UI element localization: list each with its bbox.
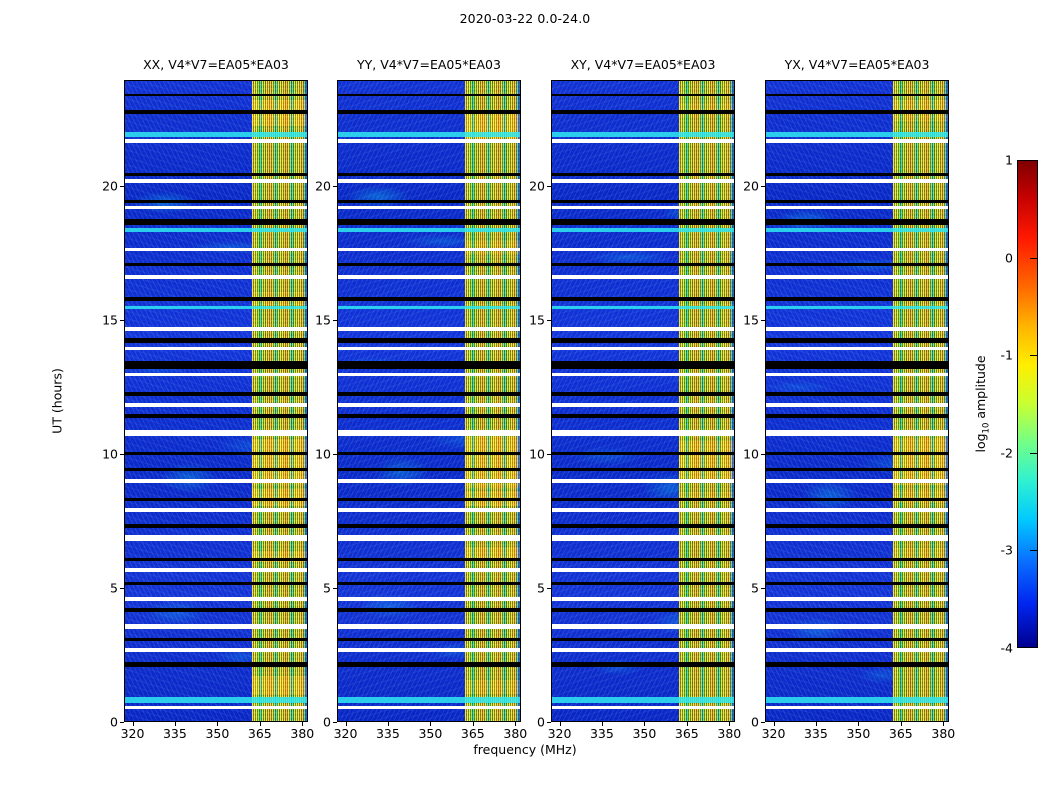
xtickmark — [133, 722, 134, 726]
ytick-xy-0: 0 — [521, 715, 545, 730]
cbtick-m3: -3 — [1001, 543, 1013, 558]
panel-title-yy: YY, V4*V7=EA05*EA03 — [357, 57, 501, 72]
xtickmark — [729, 722, 730, 726]
panel-yx: YX, V4*V7=EA05*EA03 — [765, 80, 949, 722]
heatmap-axes-yx[interactable] — [765, 80, 949, 722]
colorbar-label-base: log — [973, 433, 988, 452]
ytickmark — [547, 186, 551, 187]
xtick-xx-320: 320 — [121, 726, 145, 741]
ytickmark — [120, 722, 124, 723]
ytick-yy-20: 20 — [307, 179, 331, 194]
ytick-yy-10: 10 — [307, 447, 331, 462]
cbtick-1: 1 — [1005, 153, 1013, 168]
ytick-xx-15: 15 — [94, 313, 118, 328]
ytickmark — [333, 320, 337, 321]
xtick-xx-365: 365 — [248, 726, 272, 741]
xtickmark — [175, 722, 176, 726]
ytickmark — [547, 320, 551, 321]
x-axis-label: frequency (MHz) — [0, 742, 1050, 757]
ytick-xy-10: 10 — [521, 447, 545, 462]
flagged-row-stripes — [766, 81, 948, 721]
flagged-row-stripes — [338, 81, 520, 721]
figure-canvas: 2020-03-22 0.0-24.0 XX, V4*V7=EA05*EA03 — [0, 0, 1050, 800]
heatmap-axes-xy[interactable] — [551, 80, 735, 722]
ytick-xx-5: 5 — [94, 581, 118, 596]
xtick-yy-365: 365 — [461, 726, 485, 741]
y-axis-label: UT (hours) — [50, 368, 65, 434]
xtickmark — [473, 722, 474, 726]
xtick-yx-320: 320 — [762, 726, 786, 741]
panel-title-xy: XY, V4*V7=EA05*EA03 — [571, 57, 716, 72]
ytick-yx-10: 10 — [735, 447, 759, 462]
cbtick-0: 0 — [1005, 250, 1013, 265]
xtickmark — [774, 722, 775, 726]
xtickmark — [430, 722, 431, 726]
panel-yy: YY, V4*V7=EA05*EA03 — [337, 80, 521, 722]
cbtick-m1: -1 — [1001, 348, 1013, 363]
ytick-xy-20: 20 — [521, 179, 545, 194]
ytick-yx-5: 5 — [735, 581, 759, 596]
ytickmark — [120, 588, 124, 589]
ytickmark — [761, 454, 765, 455]
ytick-yy-15: 15 — [307, 313, 331, 328]
xtickmark — [560, 722, 561, 726]
cbtickmark — [1030, 258, 1038, 259]
colorbar-label-sub: 10 — [981, 423, 991, 434]
ytick-xx-0: 0 — [94, 715, 118, 730]
ytickmark — [333, 186, 337, 187]
ytickmark — [761, 186, 765, 187]
xtick-yy-335: 335 — [376, 726, 400, 741]
colorbar-label: log10 amplitude — [973, 355, 992, 452]
ytickmark — [547, 722, 551, 723]
colorbar[interactable] — [1017, 160, 1038, 648]
cbtick-m2: -2 — [1001, 445, 1013, 460]
xtick-yx-350: 350 — [846, 726, 870, 741]
xtickmark — [858, 722, 859, 726]
panel-xy: XY, V4*V7=EA05*EA03 — [551, 80, 735, 722]
ytickmark — [120, 320, 124, 321]
xtickmark — [901, 722, 902, 726]
cbtick-m4: -4 — [1001, 641, 1013, 656]
xtick-yx-365: 365 — [889, 726, 913, 741]
xtick-yx-335: 335 — [804, 726, 828, 741]
ytickmark — [120, 454, 124, 455]
ytick-yx-0: 0 — [735, 715, 759, 730]
ytickmark — [761, 588, 765, 589]
xtickmark — [816, 722, 817, 726]
xtickmark — [388, 722, 389, 726]
xtick-xx-350: 350 — [205, 726, 229, 741]
ytickmark — [333, 722, 337, 723]
ytickmark — [333, 454, 337, 455]
cbtickmark — [1030, 550, 1038, 551]
xtickmark — [302, 722, 303, 726]
xtick-yy-320: 320 — [334, 726, 358, 741]
xtickmark — [515, 722, 516, 726]
xtickmark — [346, 722, 347, 726]
ytick-yy-5: 5 — [307, 581, 331, 596]
xtick-xy-335: 335 — [590, 726, 614, 741]
flagged-row-stripes — [125, 81, 307, 721]
xtickmark — [644, 722, 645, 726]
ytick-xy-5: 5 — [521, 581, 545, 596]
xtick-yx-380: 380 — [931, 726, 955, 741]
ytickmark — [761, 320, 765, 321]
ytick-yx-15: 15 — [735, 313, 759, 328]
panel-xx: XX, V4*V7=EA05*EA03 — [124, 80, 308, 722]
xtick-yy-350: 350 — [418, 726, 442, 741]
xtick-xy-350: 350 — [632, 726, 656, 741]
ytickmark — [547, 588, 551, 589]
ytick-xx-10: 10 — [94, 447, 118, 462]
flagged-row-stripes — [552, 81, 734, 721]
xtickmark — [943, 722, 944, 726]
heatmap-axes-xx[interactable] — [124, 80, 308, 722]
xtickmark — [217, 722, 218, 726]
cbtickmark — [1030, 453, 1038, 454]
xtick-xy-365: 365 — [675, 726, 699, 741]
ytick-yx-20: 20 — [735, 179, 759, 194]
panel-title-yx: YX, V4*V7=EA05*EA03 — [785, 57, 930, 72]
ytick-xy-15: 15 — [521, 313, 545, 328]
ytickmark — [333, 588, 337, 589]
ytickmark — [547, 454, 551, 455]
panel-title-xx: XX, V4*V7=EA05*EA03 — [143, 57, 289, 72]
xtick-xx-335: 335 — [163, 726, 187, 741]
ytickmark — [761, 722, 765, 723]
ytick-yy-0: 0 — [307, 715, 331, 730]
xtickmark — [602, 722, 603, 726]
colorbar-label-rest: amplitude — [973, 355, 988, 422]
xtickmark — [260, 722, 261, 726]
ytickmark — [120, 186, 124, 187]
heatmap-axes-yy[interactable] — [337, 80, 521, 722]
figure-suptitle: 2020-03-22 0.0-24.0 — [0, 11, 1050, 26]
xtick-xy-320: 320 — [548, 726, 572, 741]
ytick-xx-20: 20 — [94, 179, 118, 194]
xtickmark — [687, 722, 688, 726]
cbtickmark — [1030, 355, 1038, 356]
